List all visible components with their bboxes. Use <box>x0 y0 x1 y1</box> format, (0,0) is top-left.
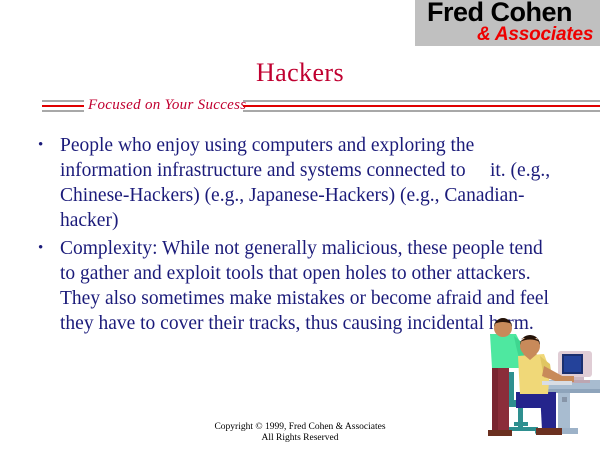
copyright-line-1: Copyright © 1999, Fred Cohen & Associate… <box>0 422 600 433</box>
logo-secondary-text: & Associates <box>477 24 593 46</box>
slide-title: Hackers <box>0 58 600 88</box>
rule-gray-top-left <box>42 100 84 102</box>
tagline-rule-left <box>42 99 84 112</box>
copyright-line-2: All Rights Reserved <box>0 433 600 444</box>
bullet-marker: • <box>30 236 60 261</box>
bullet-marker: • <box>30 133 60 158</box>
tagline-rule-right <box>243 99 600 112</box>
tagline-text: Focused on Your Success <box>88 97 246 114</box>
rule-gray-bottom-left <box>42 110 84 112</box>
bullet-item: • People who enjoy using computers and e… <box>30 133 555 233</box>
footer-copyright: Copyright © 1999, Fred Cohen & Associate… <box>0 422 600 444</box>
rule-gray-bottom-right <box>243 110 600 112</box>
bullet-text: People who enjoy using computers and exp… <box>60 133 555 233</box>
rule-red-left <box>42 105 84 107</box>
rule-red-right <box>243 105 600 107</box>
tagline-bar: Focused on Your Success <box>0 99 600 119</box>
slide-body: • People who enjoy using computers and e… <box>30 133 555 339</box>
rule-gray-top-right <box>243 100 600 102</box>
company-logo: Fred Cohen & Associates <box>415 0 600 46</box>
